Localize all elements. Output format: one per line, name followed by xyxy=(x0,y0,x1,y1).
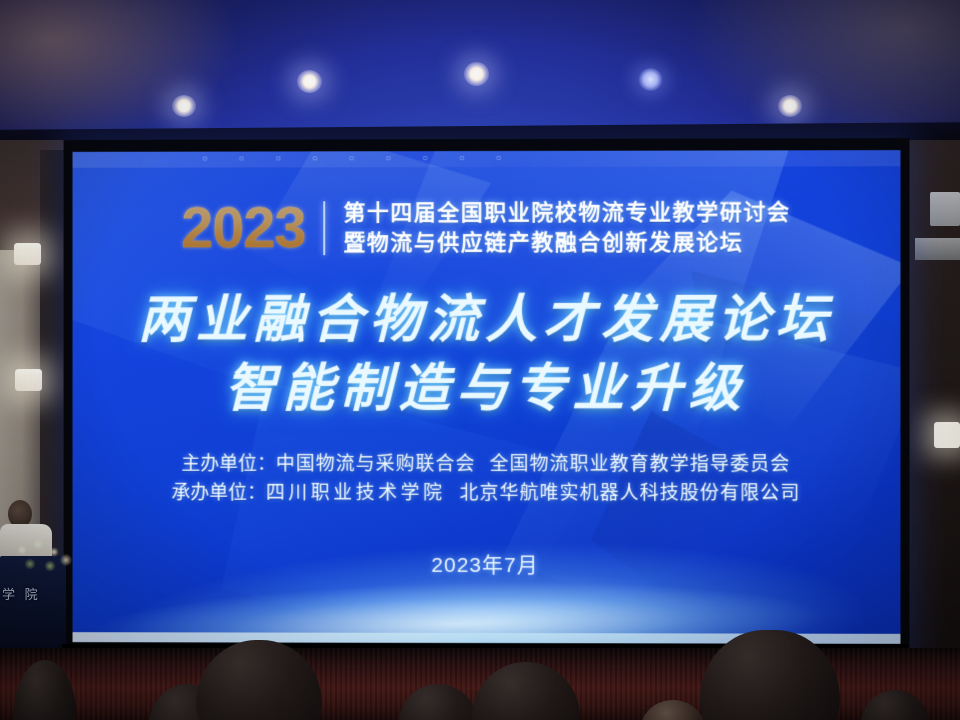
organizer-host-entry-2: 全国物流职业教育教学指导委员会 xyxy=(489,454,790,475)
wall-lamp-upper xyxy=(14,243,41,265)
event-date: 2023年7月 xyxy=(73,548,901,579)
ceiling-spotlight-1 xyxy=(172,95,196,117)
ceiling-spotlight-5 xyxy=(778,95,802,117)
organizer-host-label: 主办单位： xyxy=(181,454,276,475)
organizer-undertaker-label: 承办单位： xyxy=(171,482,266,503)
wall-lamp-lower xyxy=(15,369,42,391)
organizer-row-host: 主办单位：中国物流与采购联合会全国物流职业教育教学指导委员会 xyxy=(73,451,901,480)
right-wall-panel-lower xyxy=(915,238,960,260)
screen-content: 2023 第十四届全国职业院校物流专业教学研讨会 暨物流与供应链产教融合创新发展… xyxy=(73,150,901,644)
organizer-host-entry-1: 中国物流与采购联合会 xyxy=(276,454,476,475)
ceiling-spotlight-3 xyxy=(464,62,489,86)
right-wall-panel-upper xyxy=(930,192,960,226)
ceiling-spotlight-4 xyxy=(638,68,663,91)
ceiling-spotlight-2 xyxy=(297,70,322,93)
main-title-line-2: 智能制造与专业升级 xyxy=(73,360,901,417)
headline-subtitle-line-2: 暨物流与供应链产教融合创新发展论坛 xyxy=(343,229,790,256)
led-screen: ○ ○ ○ ○ ○ ○ ○ ○ ○ 2023 第十四届全国职业院校物流专业教学研… xyxy=(73,150,901,644)
screen-headline: 2023 第十四届全国职业院校物流专业教学研讨会 暨物流与供应链产教融合创新发展… xyxy=(73,198,901,257)
main-title-block: 两业融合物流人才发展论坛 智能制造与专业升级 xyxy=(73,291,901,418)
headline-subtitle-group: 第十四届全国职业院校物流专业教学研讨会 暨物流与供应链产教融合创新发展论坛 xyxy=(343,199,790,256)
organizer-block: 主办单位：中国物流与采购联合会全国物流职业教育教学指导委员会 承办单位：四川职业… xyxy=(73,451,901,509)
organizer-row-undertaker: 承办单位：四川职业技术学院北京华航唯实机器人科技股份有限公司 xyxy=(73,479,901,508)
event-year: 2023 xyxy=(181,199,305,257)
conference-photo: ○ ○ ○ ○ ○ ○ ○ ○ ○ 2023 第十四届全国职业院校物流专业教学研… xyxy=(0,0,960,720)
flower-arrangement xyxy=(8,536,78,576)
headline-divider xyxy=(323,201,325,255)
right-wall-lamp xyxy=(934,422,960,448)
headline-subtitle-line-1: 第十四届全国职业院校物流专业教学研讨会 xyxy=(343,199,790,227)
main-title-line-1: 两业融合物流人才发展论坛 xyxy=(73,291,901,349)
led-screen-bezel: ○ ○ ○ ○ ○ ○ ○ ○ ○ 2023 第十四届全国职业院校物流专业教学研… xyxy=(64,138,910,656)
organizer-undertaker-entry-1: 四川职业技术学院 xyxy=(266,482,446,503)
organizer-undertaker-entry-2: 北京华航唯实机器人科技股份有限公司 xyxy=(460,482,801,503)
podium-label: 学 院 xyxy=(2,584,48,603)
